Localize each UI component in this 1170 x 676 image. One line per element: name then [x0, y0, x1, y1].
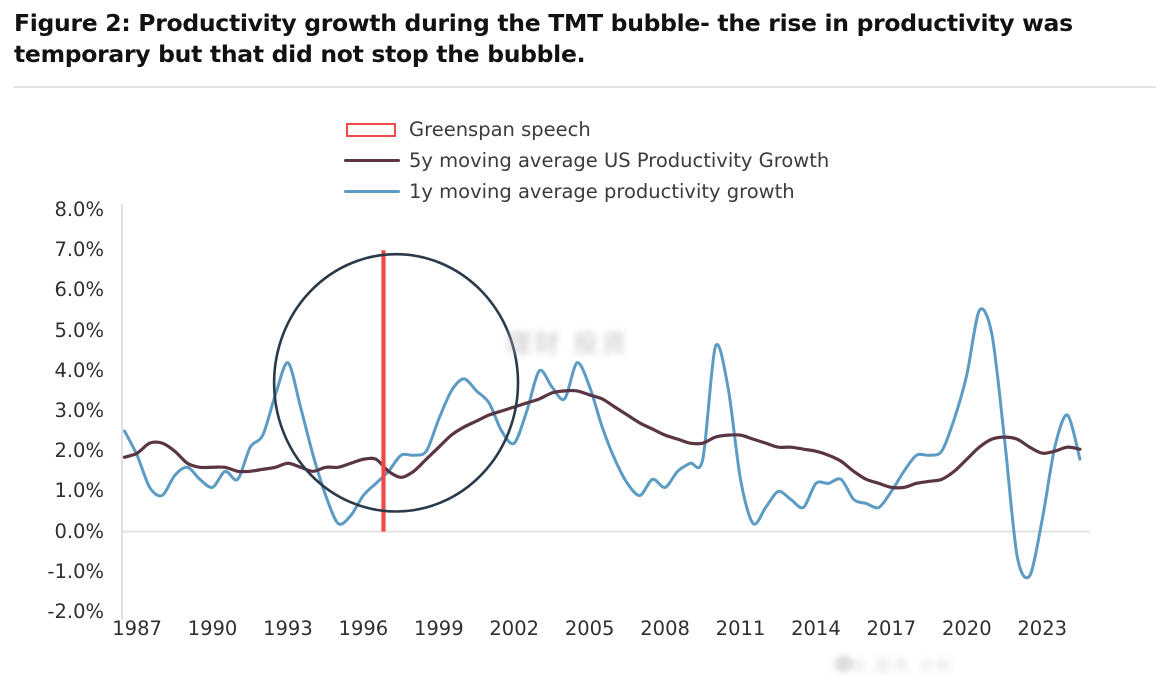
- y-tick-label: 7.0%: [18, 240, 104, 260]
- x-tick-label: 2020: [930, 619, 1004, 639]
- header-divider: [14, 86, 1156, 88]
- axis-lines: [122, 204, 1090, 620]
- x-tick-label: 2011: [704, 619, 778, 639]
- x-tick-label: 2002: [477, 619, 551, 639]
- x-tick-label: 2014: [779, 619, 853, 639]
- y-tick-label: 6.0%: [18, 280, 104, 300]
- figure-title: Figure 2: Productivity growth during the…: [14, 8, 1156, 70]
- x-tick-label: 1987: [100, 619, 174, 639]
- x-tick-label: 1990: [176, 619, 250, 639]
- y-tick-label: -2.0%: [18, 602, 104, 622]
- series-lines: [125, 309, 1080, 578]
- x-tick-label: 2017: [854, 619, 928, 639]
- chart-container: Greenspan speech 5y moving average US Pr…: [0, 92, 1170, 676]
- x-tick-label: 1993: [251, 619, 325, 639]
- chart-annotations: [274, 250, 518, 531]
- bubble-highlight-ellipse: [274, 254, 518, 511]
- figure-header: Figure 2: Productivity growth during the…: [0, 0, 1170, 70]
- x-tick-label: 2023: [1005, 619, 1079, 639]
- chart-plot: [0, 92, 1170, 676]
- y-tick-label: 3.0%: [18, 401, 104, 421]
- y-tick-label: 4.0%: [18, 361, 104, 381]
- x-tick-label: 1999: [402, 619, 476, 639]
- series-line-5y: [125, 391, 1080, 488]
- y-tick-label: 5.0%: [18, 321, 104, 341]
- y-tick-label: 2.0%: [18, 441, 104, 461]
- x-tick-label: 2008: [628, 619, 702, 639]
- y-tick-label: 1.0%: [18, 481, 104, 501]
- y-tick-label: 0.0%: [18, 522, 104, 542]
- y-tick-label: 8.0%: [18, 200, 104, 220]
- x-tick-label: 1996: [326, 619, 400, 639]
- watermark-logo-icon: [836, 655, 853, 672]
- series-line-1y: [125, 309, 1080, 578]
- y-tick-label: -1.0%: [18, 562, 104, 582]
- x-tick-label: 2005: [553, 619, 627, 639]
